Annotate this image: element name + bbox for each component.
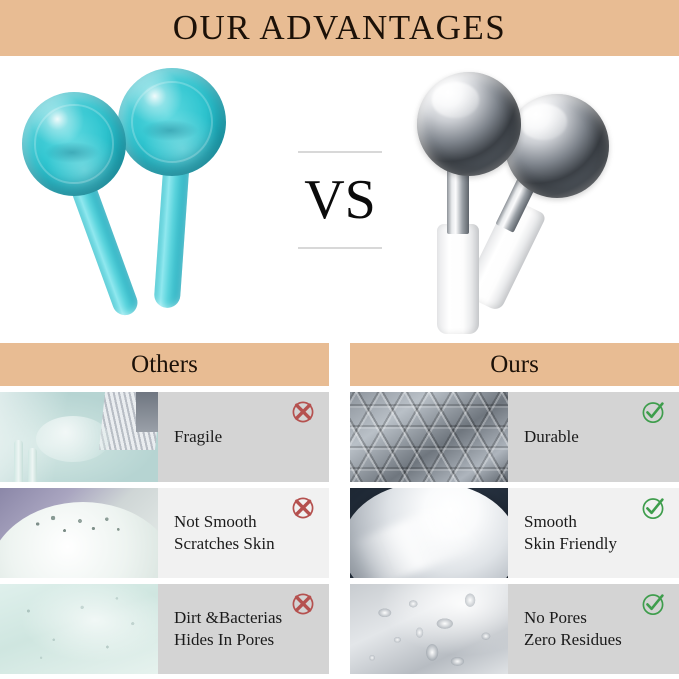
- column-header-others: Others: [0, 343, 329, 386]
- ice-globe-head: [22, 92, 126, 196]
- vs-rule-bottom: [298, 247, 382, 249]
- column-header-others-label: Others: [131, 351, 198, 379]
- page-title: OUR ADVANTAGES: [173, 8, 507, 48]
- mint-liquid-tray-photo: [0, 392, 158, 482]
- green-check-circle-icon: [640, 591, 666, 617]
- chrome-massager-head: [505, 94, 609, 198]
- others-product-image: [0, 56, 300, 343]
- green-check-circle-icon: [640, 495, 666, 521]
- misty-porous-surface-photo: [0, 584, 158, 674]
- row-label: Fragile: [174, 426, 222, 448]
- vs-divider: VS: [298, 151, 382, 251]
- water-droplets-on-steel-photo: [350, 584, 508, 674]
- row-content: Not Smooth Scratches Skin: [158, 488, 329, 578]
- ice-globe-head: [118, 68, 226, 176]
- row-content: Durable: [508, 392, 679, 482]
- table-row: No Pores Zero Residues: [350, 584, 679, 674]
- green-check-circle-icon: [640, 399, 666, 425]
- page-header: OUR ADVANTAGES: [0, 0, 679, 56]
- comparison-column-others: Others Fragile: [0, 343, 329, 674]
- bumpy-sphere-photo: [0, 488, 158, 578]
- row-label: Durable: [524, 426, 579, 448]
- ours-product-image: [389, 56, 679, 343]
- chrome-massager-neck: [447, 166, 469, 234]
- column-header-ours-label: Ours: [490, 351, 539, 379]
- row-content: Dirt &Bacterias Hides In Pores: [158, 584, 329, 674]
- table-row: Dirt &Bacterias Hides In Pores: [0, 584, 329, 674]
- comparison-column-ours: Ours Durable: [350, 343, 679, 674]
- metal-hexagon-texture-photo: [350, 392, 508, 482]
- row-content: Fragile: [158, 392, 329, 482]
- polished-chrome-sphere-photo: [350, 488, 508, 578]
- column-header-ours: Ours: [350, 343, 679, 386]
- row-content: No Pores Zero Residues: [508, 584, 679, 674]
- row-label: Not Smooth Scratches Skin: [174, 511, 275, 555]
- table-row: Fragile: [0, 392, 329, 482]
- red-x-circle-icon: [290, 495, 316, 521]
- chrome-massager-head: [417, 72, 521, 176]
- row-content: Smooth Skin Friendly: [508, 488, 679, 578]
- table-row: Durable: [350, 392, 679, 482]
- comparison-table: Others Fragile: [0, 343, 679, 679]
- row-label: Dirt &Bacterias Hides In Pores: [174, 607, 282, 651]
- row-label: Smooth Skin Friendly: [524, 511, 617, 555]
- table-row: Not Smooth Scratches Skin: [0, 488, 329, 578]
- red-x-circle-icon: [290, 591, 316, 617]
- vs-label: VS: [298, 153, 382, 247]
- hero-product-comparison: VS: [0, 56, 679, 343]
- row-label: No Pores Zero Residues: [524, 607, 622, 651]
- table-row: Smooth Skin Friendly: [350, 488, 679, 578]
- red-x-circle-icon: [290, 399, 316, 425]
- chrome-massager-handle: [437, 224, 479, 334]
